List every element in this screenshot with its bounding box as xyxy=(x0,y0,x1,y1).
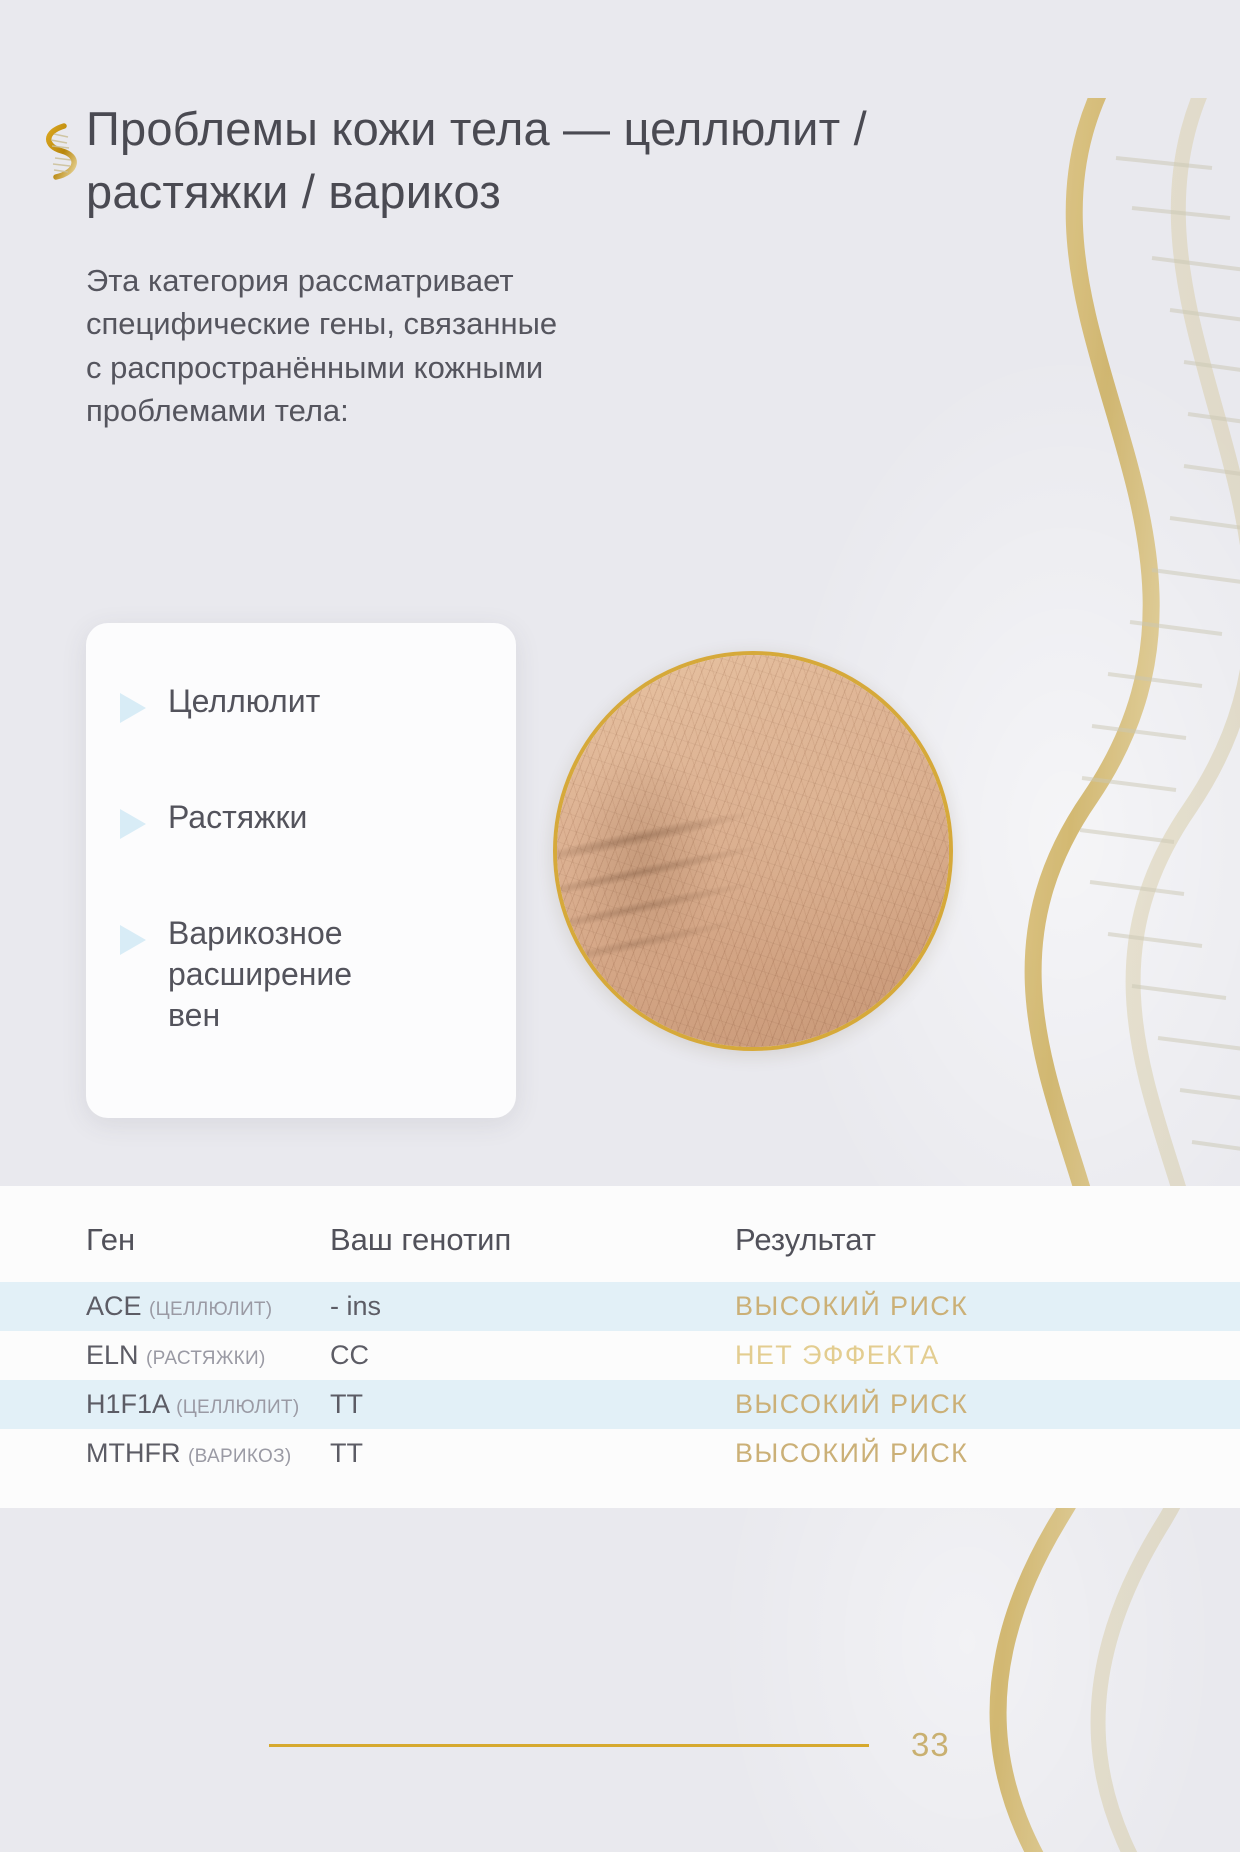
gene-name: ELN xyxy=(86,1340,139,1370)
gene-name: ACE xyxy=(86,1291,142,1321)
status-badge: ВЫСОКИЙ РИСК xyxy=(735,1389,968,1419)
cell-result: ВЫСОКИЙ РИСК xyxy=(735,1282,1240,1331)
gene-note: (ЦЕЛЛЮЛИТ) xyxy=(176,1397,299,1418)
table-row: H1F1A (ЦЕЛЛЮЛИТ) TT ВЫСОКИЙ РИСК xyxy=(0,1380,1240,1429)
cell-gene: MTHFR (ВАРИКОЗ) xyxy=(0,1429,330,1478)
list-item: Варикозное расширение вен xyxy=(120,913,482,1036)
cell-genotype: TT xyxy=(330,1380,735,1429)
list-item: Растяжки xyxy=(120,797,482,839)
bullet-label: Целлюлит xyxy=(168,681,320,722)
table-header-row: Ген Ваш генотип Результат xyxy=(0,1212,1240,1282)
triangle-bullet-icon xyxy=(120,809,146,839)
triangle-bullet-icon xyxy=(120,693,146,723)
gene-results-table: Ген Ваш генотип Результат ACE (ЦЕЛЛЮЛИТ)… xyxy=(0,1186,1240,1508)
table-row: MTHFR (ВАРИКОЗ) TT ВЫСОКИЙ РИСК xyxy=(0,1429,1240,1478)
list-item: Целлюлит xyxy=(120,681,482,723)
table-row: ELN (РАСТЯЖКИ) CC НЕТ ЭФФЕКТА xyxy=(0,1331,1240,1380)
cell-result: ВЫСОКИЙ РИСК xyxy=(735,1380,1240,1429)
column-header-result: Результат xyxy=(735,1212,1240,1282)
dna-helix-logo xyxy=(30,120,86,182)
cell-result: ВЫСОКИЙ РИСК xyxy=(735,1429,1240,1478)
cell-gene: H1F1A (ЦЕЛЛЮЛИТ) xyxy=(0,1380,330,1429)
page-title: Проблемы кожи тела — целлюлит / растяжки… xyxy=(86,98,986,223)
cell-gene: ELN (РАСТЯЖКИ) xyxy=(0,1331,330,1380)
gene-note: (ВАРИКОЗ) xyxy=(188,1446,292,1467)
cell-genotype: TT xyxy=(330,1429,735,1478)
triangle-bullet-icon xyxy=(120,925,146,955)
skin-photo xyxy=(553,651,953,1051)
cell-result: НЕТ ЭФФЕКТА xyxy=(735,1331,1240,1380)
conditions-card: Целлюлит Растяжки Варикозное расширение … xyxy=(86,623,516,1118)
bullet-label: Растяжки xyxy=(168,797,307,838)
gene-note: (ЦЕЛЛЮЛИТ) xyxy=(149,1299,272,1320)
cell-gene: ACE (ЦЕЛЛЮЛИТ) xyxy=(0,1282,330,1331)
gene-name: MTHFR xyxy=(86,1438,180,1468)
status-badge: ВЫСОКИЙ РИСК xyxy=(735,1438,968,1468)
footer-divider xyxy=(269,1744,869,1747)
column-header-gene: Ген xyxy=(0,1212,330,1282)
page-content: Проблемы кожи тела — целлюлит / растяжки… xyxy=(0,98,1240,433)
cell-genotype: CC xyxy=(330,1331,735,1380)
page-footer: 33 xyxy=(0,1726,1240,1764)
bullet-label: Варикозное расширение вен xyxy=(168,913,352,1036)
page-number: 33 xyxy=(911,1726,971,1764)
column-header-genotype: Ваш генотип xyxy=(330,1212,735,1282)
status-badge: ВЫСОКИЙ РИСК xyxy=(735,1291,968,1321)
table-row: ACE (ЦЕЛЛЮЛИТ) - ins ВЫСОКИЙ РИСК xyxy=(0,1282,1240,1331)
gene-note: (РАСТЯЖКИ) xyxy=(146,1348,266,1369)
gene-name: H1F1A xyxy=(86,1389,169,1419)
cell-genotype: - ins xyxy=(330,1282,735,1331)
status-badge: НЕТ ЭФФЕКТА xyxy=(735,1340,940,1370)
intro-paragraph: Эта категория рассматривает специфически… xyxy=(86,259,806,433)
